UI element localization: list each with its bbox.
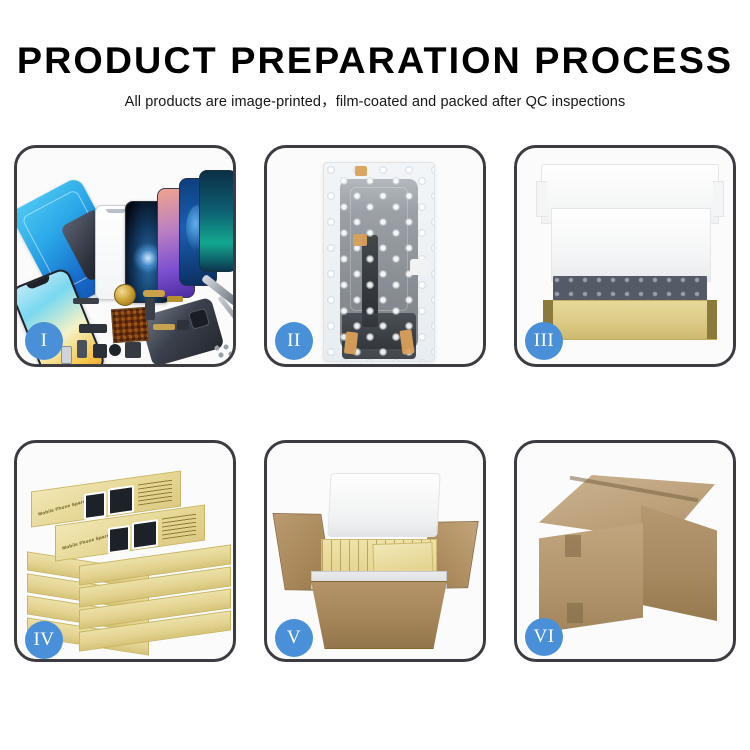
box-thumbnail-icon	[132, 519, 158, 550]
box-thumbnail-icon	[84, 491, 106, 520]
product-preparation-infographic: PRODUCT PREPARATION PROCESS All products…	[0, 0, 750, 750]
box-thumbnail-icon	[108, 525, 130, 554]
header: PRODUCT PREPARATION PROCESS All products…	[0, 0, 750, 112]
step-panel-3: III	[514, 145, 736, 367]
antistatic-pads-icon	[553, 276, 707, 302]
spare-part-icon	[177, 320, 189, 330]
coil-component-icon	[114, 284, 136, 306]
step-badge-4: IV	[25, 621, 63, 659]
tape-icon	[353, 234, 367, 246]
chip-grid-icon	[111, 307, 149, 343]
spare-part-icon	[143, 290, 165, 297]
step-badge-2: II	[275, 322, 313, 360]
bubble-wrap-bag-icon	[323, 162, 435, 362]
step-badge-3: III	[525, 322, 563, 360]
carton-side-face-icon	[641, 505, 717, 621]
page-subtitle: All products are image-printed，film-coat…	[0, 92, 750, 112]
box-thumbnail-icon	[108, 485, 134, 516]
carton-front-face-icon	[539, 523, 643, 633]
spare-part-icon	[61, 346, 72, 364]
step-panel-6: VI	[514, 440, 736, 662]
spare-part-icon	[77, 340, 87, 358]
spare-part-icon	[73, 298, 99, 304]
step-panel-5: V	[264, 440, 486, 662]
step-badge-5: V	[275, 619, 313, 657]
step-badge-1: I	[25, 322, 63, 360]
page-title: PRODUCT PREPARATION PROCESS	[0, 40, 750, 82]
carton-tape-icon	[565, 535, 581, 557]
spare-part-icon	[93, 344, 107, 358]
step-panel-2: II	[264, 145, 486, 367]
step-panel-4: Mobile Phone Spare Parts Mobile Phone Sp…	[14, 440, 236, 662]
carton-body-icon	[311, 581, 447, 649]
spare-part-icon	[125, 342, 141, 358]
phone-teal-icon	[199, 170, 233, 272]
kraft-box-front-icon	[543, 300, 717, 340]
process-steps-grid: I II	[14, 145, 736, 662]
spare-part-icon	[153, 324, 175, 330]
spare-part-icon	[109, 344, 121, 356]
step-badge-6: VI	[525, 618, 563, 656]
white-chip-icon	[410, 259, 428, 275]
foam-lid-icon	[327, 473, 440, 537]
carton-tape-icon	[567, 603, 583, 623]
step-panel-1: I	[14, 145, 236, 367]
spare-part-icon	[167, 296, 183, 302]
tape-icon	[355, 166, 367, 176]
screws-icon	[213, 344, 233, 358]
tape-icon	[344, 331, 358, 354]
spare-part-icon	[145, 298, 155, 320]
foam-sheet-icon	[551, 208, 711, 282]
spare-part-icon	[79, 324, 107, 333]
